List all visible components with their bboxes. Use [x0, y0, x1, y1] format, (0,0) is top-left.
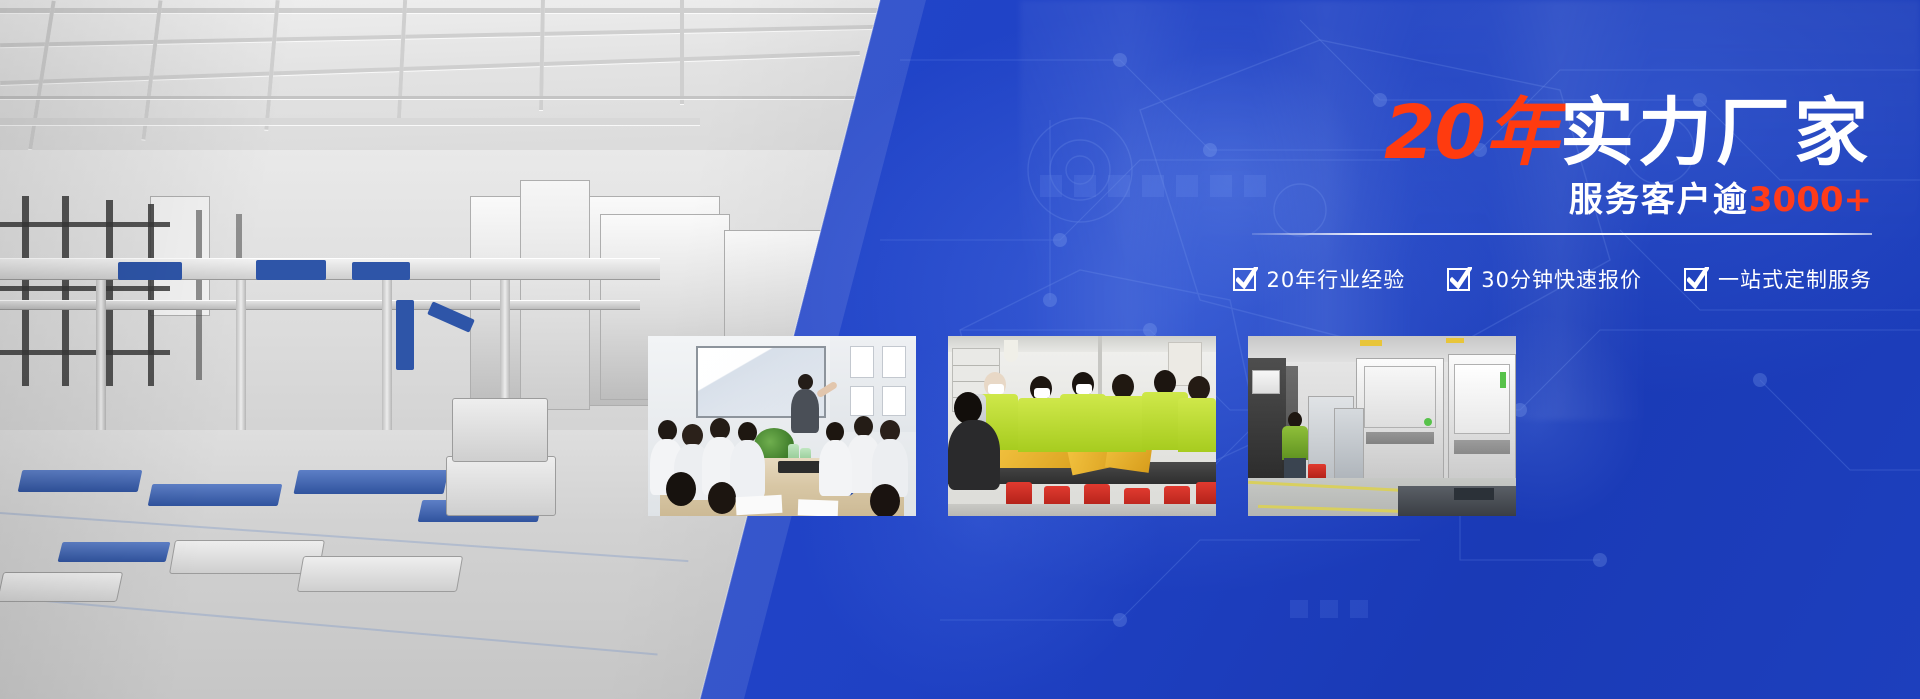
assembly-line-workers-photo[interactable]	[948, 336, 1216, 516]
feature-badge-label: 20年行业经验	[1267, 264, 1406, 294]
subtitle-text: 服务客户逾	[1569, 180, 1749, 220]
horizontal-divider	[1252, 233, 1872, 235]
check-square-icon	[1233, 268, 1256, 291]
feature-badge-list: 20年行业经验 30分钟快速报价 一站式定制服务	[1233, 264, 1872, 294]
thumbnail-gallery	[648, 336, 1516, 516]
feature-badge-label: 一站式定制服务	[1718, 264, 1872, 294]
check-square-icon	[1684, 268, 1707, 291]
feature-badge-experience[interactable]: 20年行业经验	[1233, 264, 1406, 294]
meeting-training-room-photo[interactable]	[648, 336, 916, 516]
subtitle: 服务客户逾3000+	[1569, 183, 1872, 217]
headline-rest: 实力厂家	[1560, 90, 1872, 176]
page-title: 20年实力厂家	[1384, 96, 1872, 170]
hero-banner: 20年实力厂家 服务客户逾3000+ 20年行业经验	[0, 0, 1920, 699]
headline-highlight: 20年	[1384, 90, 1558, 176]
cnc-machine-shop-photo[interactable]	[1248, 336, 1516, 516]
feature-badge-quote[interactable]: 30分钟快速报价	[1447, 264, 1642, 294]
subtitle-number: 3000+	[1749, 180, 1872, 220]
feature-badge-label: 30分钟快速报价	[1481, 264, 1642, 294]
check-square-icon	[1447, 268, 1470, 291]
feature-badge-custom-service[interactable]: 一站式定制服务	[1684, 264, 1872, 294]
